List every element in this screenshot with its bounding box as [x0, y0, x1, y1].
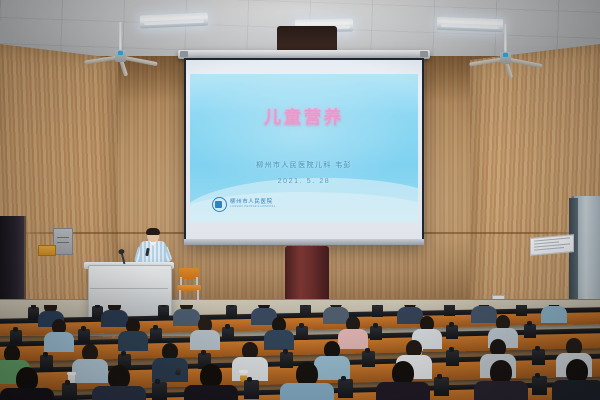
seat-back [300, 305, 311, 317]
seat-back [370, 326, 382, 340]
fan-rod [504, 24, 507, 54]
fan-indicator-light [503, 53, 508, 57]
chair-leg [179, 290, 181, 303]
audience-shoulders [173, 309, 200, 326]
seat-back [10, 330, 22, 344]
chair-leg [197, 290, 199, 303]
seat-back [222, 327, 234, 341]
housing-end-cap [180, 51, 188, 57]
audience-shoulders [118, 331, 148, 351]
seat-back [244, 380, 259, 399]
fan-indicator-light [118, 51, 123, 55]
audience-shoulders [471, 306, 497, 323]
hospital-logo-text: 柳州市人民医院 LIUZHOU PEOPLE'S HOSPITAL [230, 200, 276, 209]
audience-shoulders [264, 330, 294, 350]
audience-shoulders [72, 359, 108, 383]
seat-back [338, 379, 353, 398]
lecture-hall-photo: 儿童营养 柳州市人民医院儿科 韦彭 2021. 5. 28 柳州市人民医院 LI… [0, 0, 600, 400]
wall-notice-sign [530, 234, 574, 256]
seat-back [446, 350, 459, 366]
side-door-right-gap [569, 198, 578, 314]
slide-subtitle: 柳州市人民医院儿科 韦彭 [190, 160, 418, 170]
ceiling-fan-right [485, 24, 525, 79]
seat-back [40, 355, 53, 371]
audience-shoulders [541, 306, 567, 323]
audience-shoulders [101, 310, 128, 327]
hospital-logo: 柳州市人民医院 LIUZHOU PEOPLE'S HOSPITAL [212, 197, 276, 212]
seat-back [446, 325, 458, 339]
stage-chair [177, 268, 201, 302]
seat-back [372, 305, 383, 317]
audience-shoulders [92, 386, 146, 400]
seat-back [532, 349, 545, 365]
seat-back [150, 328, 162, 342]
audience-shoulders [190, 330, 220, 350]
audience-seating [0, 305, 600, 400]
audience-shoulders [552, 380, 600, 400]
seat-back [78, 329, 90, 343]
seat-back [158, 305, 169, 318]
seat-back [532, 376, 547, 395]
seat-back [152, 382, 167, 400]
seat-back [280, 352, 293, 368]
wall-label-plate [38, 245, 56, 256]
seat-back [296, 326, 308, 340]
audience-shoulders [44, 332, 74, 352]
presenter-hair [146, 228, 160, 235]
hospital-logo-icon [212, 197, 227, 212]
electrical-panel [53, 228, 73, 255]
seat-back [516, 305, 527, 316]
projection-screen-weight-bar [184, 239, 424, 245]
seat-back [524, 324, 536, 338]
audience-shoulders [376, 382, 430, 400]
seat-back [444, 305, 455, 316]
seat-back [434, 377, 449, 396]
housing-end-cap [420, 51, 428, 57]
fan-rod [119, 22, 122, 52]
audience-shoulders [280, 383, 334, 400]
podium-panel-seam [90, 288, 168, 289]
audience-shoulders [338, 329, 368, 349]
slide-date: 2021. 5. 28 [190, 178, 418, 185]
seat-back [226, 305, 237, 318]
seat-back [362, 351, 375, 367]
ceiling-fan-left [100, 22, 140, 77]
audience-shoulders [0, 388, 54, 400]
hospital-name-en: LIUZHOU PEOPLE'S HOSPITAL [230, 206, 276, 209]
seat-back [62, 383, 77, 400]
presentation-slide: 儿童营养 柳州市人民医院儿科 韦彭 2021. 5. 28 柳州市人民医院 LI… [190, 74, 418, 222]
audience-shoulders [184, 385, 238, 400]
slide-title: 儿童营养 [190, 103, 418, 128]
audience-shoulders [474, 381, 528, 400]
